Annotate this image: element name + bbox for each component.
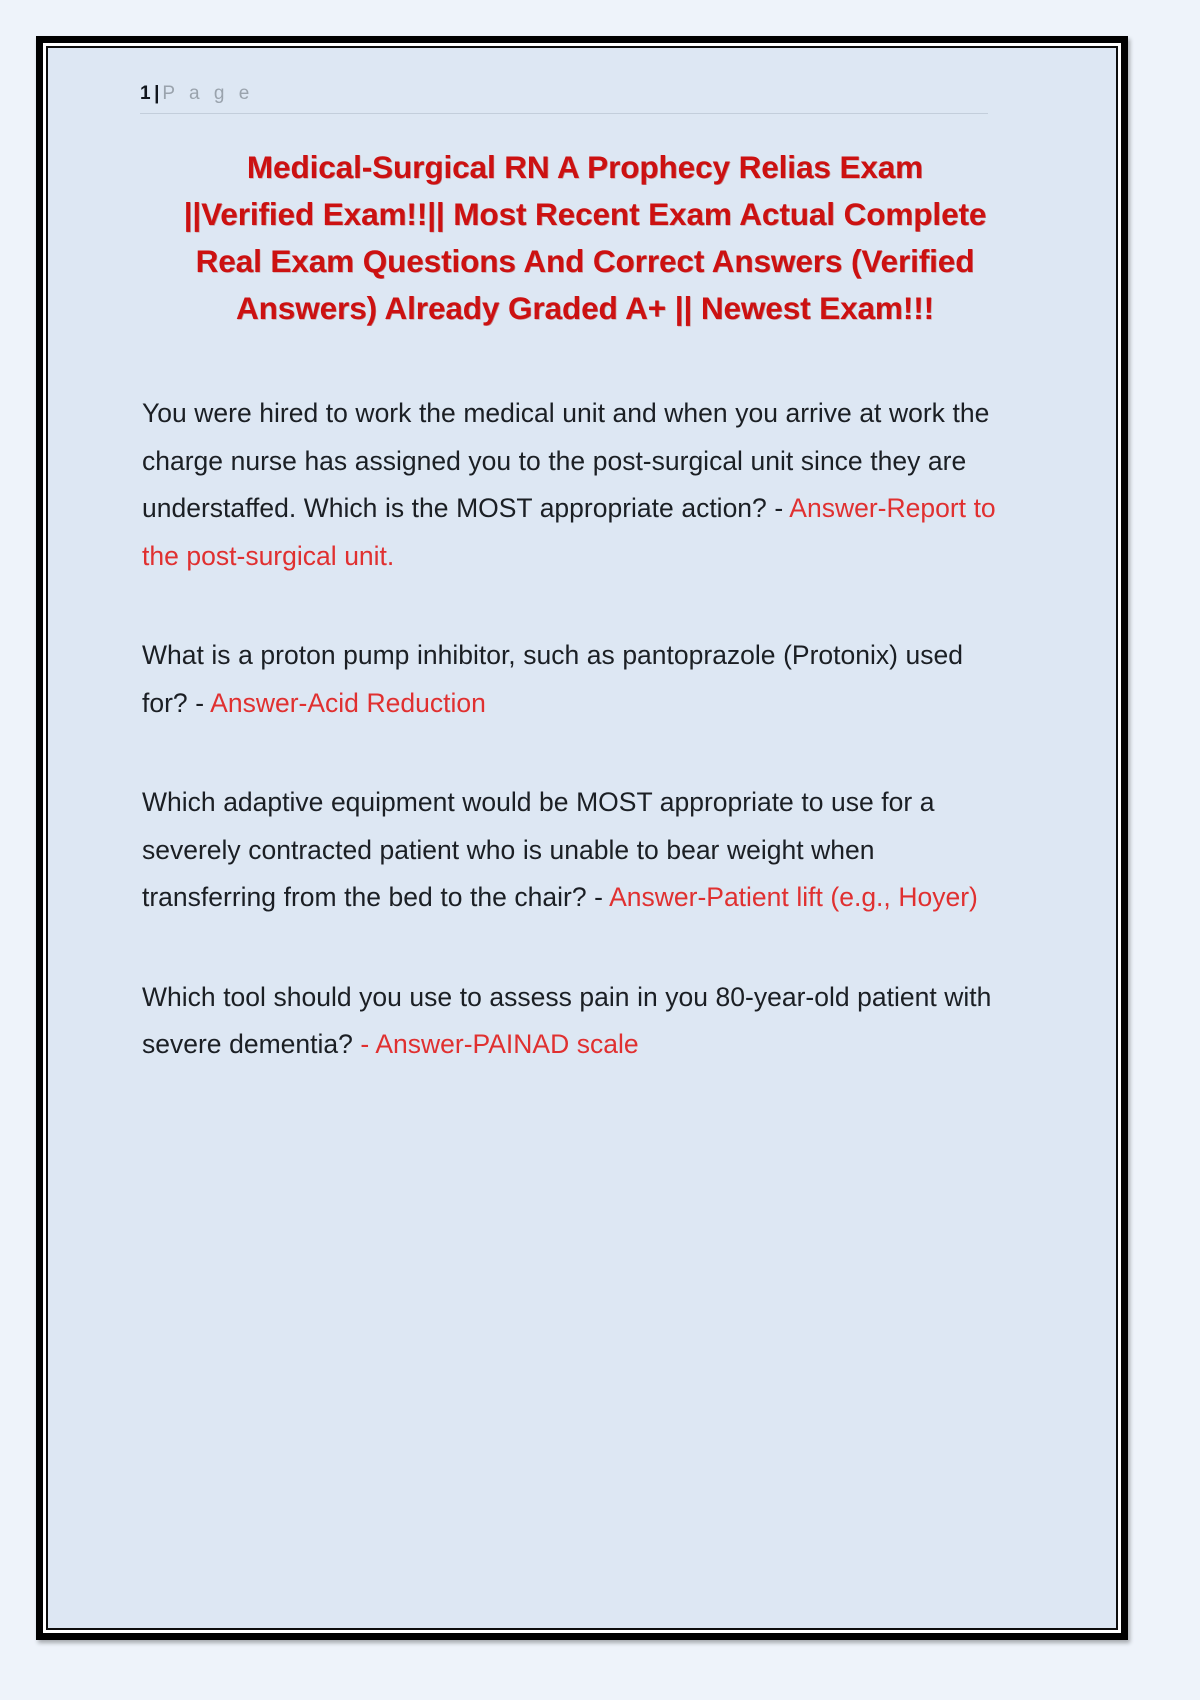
document-page-frame: 1|P a g e Medical-Surgical RN A Prophecy…: [36, 36, 1128, 1640]
answer-text: Answer-PAINAD scale: [375, 1029, 638, 1059]
answer-separator: -: [353, 1029, 376, 1059]
answer-text: Answer-Acid Reduction: [210, 688, 486, 718]
header-separator: |: [151, 83, 162, 104]
header-page-word: P a g e: [162, 83, 253, 104]
document-page-body: 1|P a g e Medical-Surgical RN A Prophecy…: [48, 48, 1116, 1628]
title-line-3: Real Exam Questions And Correct Answers …: [118, 238, 1052, 285]
page-frame-inner-white: 1|P a g e Medical-Surgical RN A Prophecy…: [43, 43, 1121, 1633]
running-header: 1|P a g e: [100, 72, 1066, 106]
answer-separator: -: [767, 493, 790, 523]
qa-item: You were hired to work the medical unit …: [142, 390, 1002, 580]
title-line-2: ||Verified Exam!!|| Most Recent Exam Act…: [118, 191, 1052, 238]
title-line-1: Medical-Surgical RN A Prophecy Relias Ex…: [118, 144, 1052, 191]
qa-item: Which tool should you use to assess pain…: [142, 974, 1002, 1069]
answer-separator: -: [188, 688, 211, 718]
title-line-4: Answers) Already Graded A+ || Newest Exa…: [118, 285, 1052, 332]
page-number-label: 1|P a g e: [140, 82, 1066, 106]
header-divider: [140, 113, 988, 114]
question-answer-list: You were hired to work the medical unit …: [142, 390, 1002, 1069]
page-frame-inner-black: 1|P a g e Medical-Surgical RN A Prophecy…: [46, 46, 1118, 1630]
qa-item: Which adaptive equipment would be MOST a…: [142, 779, 1002, 922]
page-title: Medical-Surgical RN A Prophecy Relias Ex…: [118, 144, 1052, 332]
qa-item: What is a proton pump inhibitor, such as…: [142, 632, 1002, 727]
answer-separator: -: [587, 882, 610, 912]
page-number: 1: [140, 83, 151, 104]
answer-text: Answer-Patient lift (e.g., Hoyer): [609, 882, 978, 912]
